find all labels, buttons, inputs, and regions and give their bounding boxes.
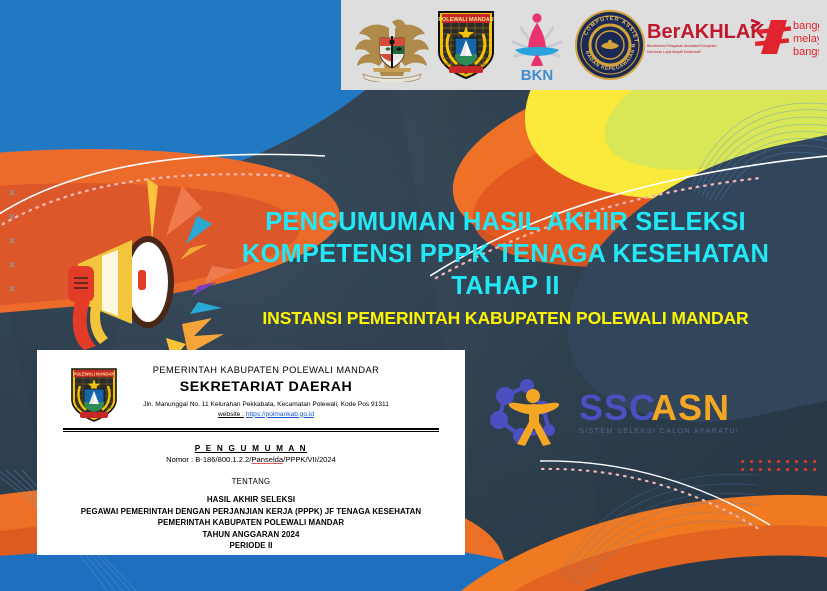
sscasn-logo: SSC ASN SISTEM SELEKSI CALON APARATUR SI… — [487, 378, 737, 448]
document-subject-line-5: PERIODE II — [53, 540, 449, 552]
document-header-line1: PEMERINTAH KABUPATEN POLEWALI MANDAR — [131, 364, 401, 377]
document-number-suffix: /PPPK/VII/2024 — [283, 455, 336, 464]
document-subject-line-4: TAHUN ANGGARAN 2024 — [53, 529, 449, 541]
headline-line-3: TAHAP II — [208, 270, 803, 302]
polewali-mandar-seal-icon: POLEWALI MANDAR — [67, 366, 121, 424]
sscasn-text-ss: SSC — [579, 387, 656, 428]
svg-text:POLEWALI MANDAR: POLEWALI MANDAR — [74, 372, 115, 377]
berakhlak-logo: BerAKHLAK Berorientasi Pelayanan Akuntab… — [647, 14, 819, 76]
bkn-logo: BKN — [501, 8, 573, 82]
sscasn-text-asn: ASN — [651, 387, 730, 428]
x-mark-icon: × — [8, 186, 28, 199]
document-number-panselda: Panselda — [251, 455, 283, 464]
document-subject-line-3: PEMERINTAH KABUPATEN POLEWALI MANDAR — [53, 517, 449, 529]
document-subject-line-1: HASIL AKHIR SELEKSI — [53, 494, 449, 506]
document-number: Nomor : B-186/800.1.2.2/Panselda/PPPK/VI… — [53, 455, 449, 464]
headline-line-1: PENGUMUMAN HASIL AKHIR SELEKSI — [208, 206, 803, 238]
document-body: P E N G U M U M A N Nomor : B-186/800.1.… — [53, 444, 449, 552]
announcement-banner: × × × × × — [0, 0, 827, 591]
page-title: PENGUMUMAN HASIL AKHIR SELEKSI KOMPETENS… — [208, 206, 803, 302]
svg-text:BerAKHLAK: BerAKHLAK — [647, 21, 765, 43]
document-tentang-label: TENTANG — [53, 477, 449, 486]
svg-text:bangga: bangga — [793, 20, 819, 32]
decorative-x-marks: × × × × × — [8, 186, 28, 295]
cat-bkn-seal-logo: COMPUTER ASSISTED TEST BADAN KEPEGAWAIAN… — [573, 8, 647, 82]
document-header-address: Jln. Manunggal No. 11 Kelurahan Pekkabat… — [131, 400, 401, 410]
headline-line-2: KOMPETENSI PPPK TENAGA KESEHATAN — [208, 238, 803, 270]
document-website-url[interactable]: https://polmankab.go.id — [246, 411, 314, 418]
decorative-dots — [741, 460, 819, 471]
svg-text:POLEWALI MANDAR: POLEWALI MANDAR — [438, 17, 494, 23]
document-divider — [63, 428, 439, 430]
sscasn-tagline: SISTEM SELEKSI CALON APARATUR SIPIL NEGA… — [579, 426, 737, 435]
x-mark-icon: × — [8, 258, 28, 271]
x-mark-icon: × — [8, 282, 28, 295]
svg-text:Berorientasi Pelayanan Akunta: Berorientasi Pelayanan Akuntabel Kompete… — [647, 44, 717, 48]
x-mark-icon: × — [8, 234, 28, 247]
document-website-label: website : — [218, 411, 244, 418]
svg-text:bangsa: bangsa — [793, 46, 819, 58]
announcement-document-card: POLEWALI MANDAR PEMERINTAH KABUPATEN POL… — [37, 350, 465, 555]
logo-bar: POLEWALI MANDAR — [341, 0, 827, 90]
svg-text:BKN: BKN — [521, 67, 554, 82]
x-mark-icon: × — [8, 210, 28, 223]
document-header-line2: SEKRETARIAT DAERAH — [131, 378, 401, 397]
document-divider-thin — [63, 431, 439, 432]
document-number-prefix: Nomor : B-186/800.1.2.2/ — [166, 455, 251, 464]
document-subject-line-2: PEGAWAI PEMERINTAH DENGAN PERJANJIAN KER… — [53, 506, 449, 518]
polewali-mandar-seal-logo: POLEWALI MANDAR — [431, 8, 501, 82]
document-title: P E N G U M U M A N — [53, 444, 449, 453]
document-letterhead: POLEWALI MANDAR PEMERINTAH KABUPATEN POL… — [53, 364, 449, 424]
svg-text:melayani: melayani — [793, 33, 819, 45]
svg-text:Harmonis Loyal Adaptif Kola: Harmonis Loyal Adaptif Kolaboratif — [647, 50, 701, 54]
page-subtitle: INSTANSI PEMERINTAH KABUPATEN POLEWALI M… — [208, 307, 803, 329]
garuda-pancasila-logo — [353, 8, 431, 82]
